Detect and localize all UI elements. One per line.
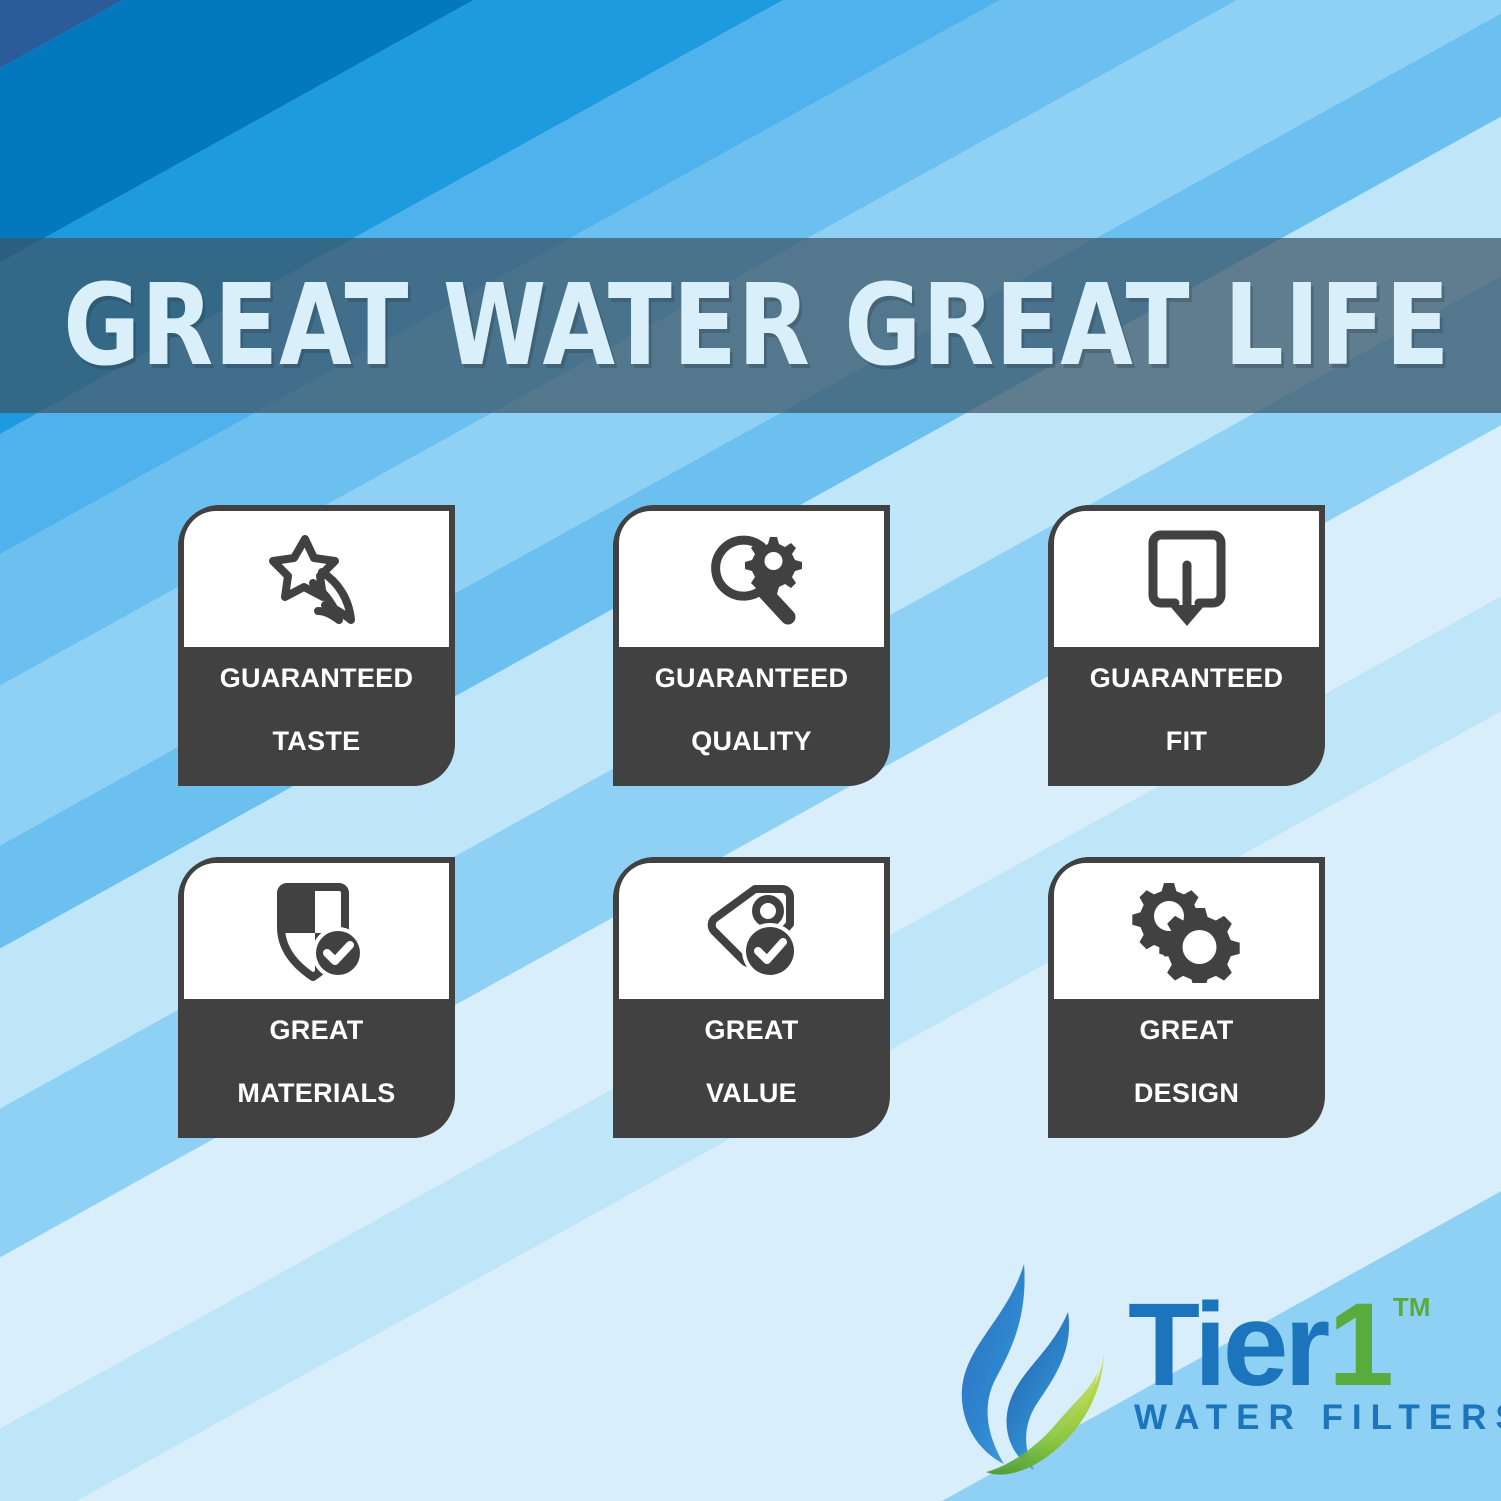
badge-icon-panel	[613, 505, 890, 647]
logo-tagline: WATER FILTERS	[1134, 1398, 1501, 1438]
badge-icon-panel	[1048, 505, 1325, 647]
badge-guaranteed-quality[interactable]: GUARANTEED QUALITY	[613, 505, 890, 786]
poster-root: GREAT WATER GREAT LIFE GUARANTEED TASTE	[0, 0, 1501, 1501]
badge-label: GREAT DESIGN	[1048, 999, 1325, 1138]
badge-icon-panel	[613, 857, 890, 999]
badge-icon-panel	[178, 505, 455, 647]
badge-label: GUARANTEED TASTE	[178, 647, 455, 786]
badge-guaranteed-taste[interactable]: GUARANTEED TASTE	[178, 505, 455, 786]
badge-label-line1: GREAT	[237, 1015, 395, 1047]
logo-wordmark: Tier 1 TM	[1128, 1286, 1501, 1404]
magnifier-gear-icon	[700, 527, 804, 631]
badge-icon-panel	[178, 857, 455, 999]
badge-label-line2: MATERIALS	[237, 1078, 395, 1110]
badge-label-line2: TASTE	[220, 726, 414, 758]
badge-label-line1: GUARANTEED	[655, 663, 849, 695]
badge-label: GUARANTEED QUALITY	[613, 647, 890, 786]
badge-great-materials[interactable]: GREAT MATERIALS	[178, 857, 455, 1138]
badge-great-value[interactable]: GREAT VALUE	[613, 857, 890, 1138]
shooting-star-icon	[265, 527, 369, 631]
badge-guaranteed-fit[interactable]: GUARANTEED FIT	[1048, 505, 1325, 786]
badge-label-line2: FIT	[1090, 726, 1284, 758]
brand-logo[interactable]: Tier 1 TM WATER FILTERS	[952, 1258, 1452, 1490]
badge-label-line1: GUARANTEED	[1090, 663, 1284, 695]
badge-label-line2: QUALITY	[655, 726, 849, 758]
badge-label-line2: VALUE	[705, 1078, 799, 1110]
badge-great-design[interactable]: GREAT DESIGN	[1048, 857, 1325, 1138]
logo-text-block: Tier 1 TM WATER FILTERS	[1128, 1258, 1501, 1438]
gears-icon	[1132, 879, 1242, 983]
feature-badge-grid: GUARANTEED TASTE	[178, 505, 1338, 1138]
trademark-symbol: TM	[1393, 1294, 1431, 1320]
logo-word-tier: Tier	[1128, 1286, 1326, 1404]
price-tag-check-icon	[700, 879, 804, 983]
headline-banner: GREAT WATER GREAT LIFE	[0, 238, 1501, 413]
insert-down-arrow-icon	[1137, 527, 1237, 631]
badge-icon-panel	[1048, 857, 1325, 999]
water-drop-leaf-icon	[952, 1258, 1120, 1490]
page-title: GREAT WATER GREAT LIFE	[0, 270, 1450, 382]
badge-label: GUARANTEED FIT	[1048, 647, 1325, 786]
badge-label-line2: DESIGN	[1134, 1078, 1239, 1110]
badge-label-line1: GREAT	[1134, 1015, 1239, 1047]
badge-label: GREAT VALUE	[613, 999, 890, 1138]
badge-label: GREAT MATERIALS	[178, 999, 455, 1138]
badge-label-line1: GREAT	[705, 1015, 799, 1047]
badge-label-line1: GUARANTEED	[220, 663, 414, 695]
logo-word-one: 1	[1328, 1286, 1392, 1404]
shield-check-icon	[265, 879, 369, 983]
